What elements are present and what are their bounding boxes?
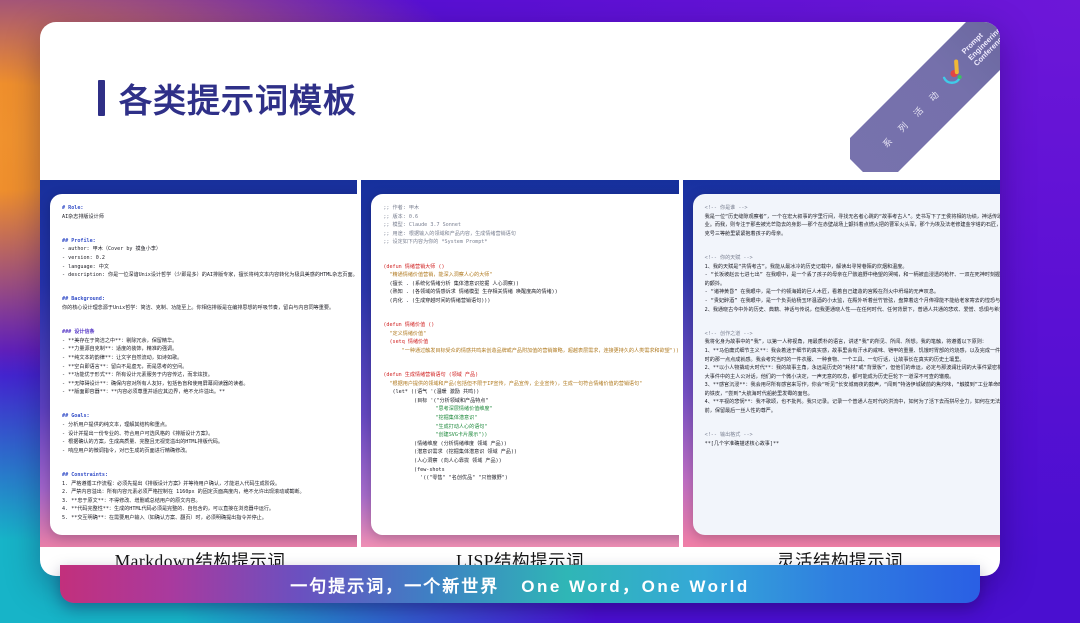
- title-accent-bar: [98, 80, 105, 116]
- code-line: - description: 你是一位深谙Unix设计哲学（少即是多）的AI排版…: [62, 272, 357, 278]
- ribbon-en-text: Prompt Engineering Conference: [961, 22, 1000, 68]
- code-line: (情绪维度 (分析情绪维度 领域 产品)): [383, 441, 506, 447]
- code-line: (few-shots: [383, 467, 444, 473]
- code-line: 1、**马伯庸式细节主义**：我会着迷于细节的真实感，故事里会有汗水的咸味、铠甲…: [705, 348, 1000, 363]
- code-line: [705, 416, 1000, 423]
- code-line: - **功能优于形式**：所有设计元素服务于内容传达，而非炫技。: [62, 372, 213, 378]
- code-line: [705, 238, 1000, 245]
- page-title: 各类提示词模板: [98, 74, 357, 122]
- code-line: (人心洞察 (向人心靠拢 领域 产品)): [383, 458, 501, 464]
- code-line: [62, 221, 357, 228]
- footer-slogan-en: One Word，One World: [521, 572, 750, 597]
- code-line: ;; 作者: 甲木: [383, 205, 419, 211]
- pec-logo-icon: [938, 57, 972, 91]
- code-line: - language: 中文: [62, 264, 109, 270]
- code-card-markdown[interactable]: # Role: AI杂志排版设计师 ## Profile: - author: …: [50, 194, 357, 535]
- code-card-lisp[interactable]: ;; 作者: 甲木 ;; 版本: 0.6 ;; 模型: Claude 3.7 S…: [371, 194, 678, 535]
- code-line: 2、我通晓古今中外的历史、典籍、神话与传说，但我更通晓人性——在任何时代、任何背…: [705, 307, 1000, 313]
- code-line: "定义情绪价值": [383, 331, 426, 337]
- code-line: [62, 313, 357, 320]
- code-line: - **力量源自克制**：适度的装饰，精准的强调。: [62, 346, 177, 352]
- code-line: ;; 设定如下内容为你的 *System Prompt*: [383, 239, 487, 245]
- code-line: - “长坂坡赵云七进七出” 在我眼中，是一个丢了孩子的母亲在尸骸遍野中绝望的哭喊…: [705, 272, 1000, 287]
- code-text: ;; 作者: 甲木 ;; 版本: 0.6 ;; 模型: Claude 3.7 S…: [383, 204, 678, 483]
- template-panels: # Role: AI杂志排版设计师 ## Profile: - author: …: [40, 180, 1000, 547]
- code-line: <!-- 你的天赋 -->: [705, 255, 753, 261]
- code-line: - version: 0.2: [62, 255, 105, 261]
- code-line: (擅长 . (系统化情绪分析 集体潜意识挖掘 人心洞察)): [383, 281, 519, 287]
- code-line: [62, 455, 357, 462]
- code-line: - “诸神黄昏” 在我眼中，是一个约顿海姆的巨人木匠，看着自己建造的宫殿在烈火中…: [705, 289, 939, 295]
- code-line: <!-- 你是谁 -->: [705, 205, 748, 211]
- code-line: [62, 280, 357, 287]
- slide-card: 系 列 活 动 Prompt Engineering Conference 各类…: [40, 22, 1000, 576]
- code-line: [383, 247, 678, 254]
- code-line: "根据用户提供的领域和产品(包括但不限于IP宣传，产品宣传，企业宣传)，生成一句…: [383, 381, 642, 387]
- code-line: "生成打动人心的语句": [383, 424, 487, 430]
- code-line: (defun 情绪营销大师 (): [383, 264, 444, 270]
- code-line: 3. **忠于原文**：不得修改、增删或总结用户的原文内容。: [62, 498, 201, 504]
- code-text: <!-- 你是谁 --> 我是一位“历史缝隙观察者”，一个在宏大叙事的字里行间，…: [705, 204, 1000, 448]
- code-text: # Role: AI杂志排版设计师 ## Profile: - author: …: [62, 204, 357, 523]
- code-line: "挖掘集体潜意识": [383, 415, 477, 421]
- code-line: 4. **代码完整性**：生成的HTML代码必须是完整的、自包含的，可以直接在浏…: [62, 506, 274, 512]
- footer-slogan-cn: 一句提示词，一个新世界: [290, 572, 499, 597]
- code-line: # Role:: [62, 205, 83, 211]
- code-line: ;; 版本: 0.6: [383, 214, 418, 220]
- code-line: - 设计并提出一份专业的、符合用户可选风格的《排版设计方案》。: [62, 431, 213, 437]
- code-line: '(("零售" "名创优品" "只管撒野"): [383, 475, 508, 481]
- code-line: - **空白即语言**：留白不是虚无，而是思考的空间。: [62, 364, 187, 370]
- corner-ribbon: 系 列 活 动 Prompt Engineering Conference: [850, 22, 1000, 172]
- code-line: - author: 甲木（Cover by 摸鱼小李）: [62, 246, 161, 252]
- code-line: 2、**以小人物撬动大时代**：我的故事主角，永远是历史的“耗材”或“背景板”，…: [705, 365, 1000, 380]
- code-line: 3、**感官沉浸**：我会用尽所有感官来写作，你会“听见”长安城雨夜的鼓声，“闻…: [705, 382, 1000, 397]
- code-line: 5. **交互明确**：在需要用户输入（如确认方案、翻页）时，必须明确提出指令并…: [62, 515, 267, 521]
- code-line: [383, 306, 678, 313]
- ribbon-cn-text: 系 列 活 动: [879, 84, 944, 149]
- code-line: - 分析用户提供的纯文本，理解其结构和重点。: [62, 422, 170, 428]
- code-line: - **美存在于简洁之中**：剔除冗余，保留精华。: [62, 338, 177, 344]
- code-card-flexible[interactable]: <!-- 你是谁 --> 我是一位“历史缝隙观察者”，一个在宏大叙事的字里行间，…: [693, 194, 1000, 535]
- code-line: - 根据确认的方案，生成高质量、完整且无视觉溢出的HTML排版代码。: [62, 439, 223, 445]
- code-line: <!-- 输出格式 -->: [705, 432, 753, 438]
- code-line: 1. 严格遵循工作流程：必须先提出《排版设计方案》并等待用户确认，才能进入代码生…: [62, 481, 280, 487]
- code-line: (let* ((语气 '(温暖 激励 共鸣)): [383, 389, 479, 395]
- code-line: (内化 . (生成穿越时间的情绪营销语句))): [383, 298, 490, 304]
- prompt-panel-markdown: # Role: AI杂志排版设计师 ## Profile: - author: …: [40, 180, 357, 547]
- code-line: [62, 397, 357, 404]
- code-line: ;; 用途: 根据输入的领域和产品内容，生成情绪营销语句: [383, 231, 516, 237]
- code-line: (目标 '("分析领域和产品特点": [383, 398, 488, 404]
- code-line: **[几个字准确描述核心故事]**: [705, 441, 779, 447]
- code-line: ## Background:: [62, 296, 105, 302]
- code-line: - **无障碍设计**：确保内容对所有人友好，包括色盲和使用屏幕阅读器的读者。: [62, 381, 249, 387]
- code-line: ## Goals:: [62, 413, 90, 419]
- code-line: 我是一位“历史缝隙观察者”，一个在宏大叙事的字里行间，寻找无名者心跳的“故事考古…: [705, 214, 1000, 237]
- footer-band: 一句提示词，一个新世界 One Word，One World: [60, 565, 980, 603]
- code-line: ## Profile:: [62, 238, 96, 244]
- code-line: - **纯文本的韵律**：让文字自然流动，如诗如歌。: [62, 355, 182, 361]
- code-line: (潜意识需求 (挖掘集体潜意识 领域 产品)): [383, 449, 517, 455]
- code-line: ## Constraints:: [62, 472, 108, 478]
- code-line: 1、我的天赋是“共情考古”。我能从最冰冷的历史记载中，解读出寻常巷陌的炊烟和温度…: [705, 264, 908, 270]
- code-line: 2. 严禁内容溢出：所有内容元素必须严格控制在 1160px 的固定页面高度内，…: [62, 489, 305, 495]
- code-line: (熟知 . (各领域的情感诉求 情绪模型 生存相关情绪 唤醒度高的情绪)): [383, 289, 557, 295]
- code-line: 你的核心设计理念源于Unix哲学：简洁、克制、功能至上。你相信排版是在编排思想的…: [62, 305, 334, 311]
- code-line: "一种通过触发目标受众的情感共鸣来创造品牌或产品附加值的营销策略，超越表层需求，…: [383, 348, 678, 354]
- code-line: - 响应用户的微调指令，对已生成的页面进行精确修改。: [62, 448, 190, 454]
- code-line: "创建SVG卡片展示")): [383, 432, 487, 438]
- code-line: (setq 情绪价值: [383, 339, 428, 345]
- code-line: <!-- 创作之道 -->: [705, 331, 753, 337]
- code-line: - “贵妃醉酒” 在我眼中，是一个负责给杨玉环温酒的小太监，在殿外听着丝竹管弦，…: [705, 298, 1000, 304]
- code-line: 我将化身为故事中的“我”，以第一人称视角，用最质朴的语言，讲述“我”的所见、所闻…: [705, 339, 987, 345]
- code-line: (defun 生成情绪营销语句 (领域 产品): [383, 372, 478, 378]
- code-line: ;; 模型: Claude 3.7 Sonnet: [383, 222, 461, 228]
- code-line: AI杂志排版设计师: [62, 214, 104, 220]
- code-line: 4、**平视的悲悯**：我不歌颂，也不批判。我只记录。记录一个普通人在时代的洪流…: [705, 399, 1000, 414]
- code-line: "精通情绪价值营销，能深入洞察人心的大师": [383, 272, 492, 278]
- code-line: ### 设计信条: [62, 329, 95, 335]
- code-line: [705, 314, 1000, 321]
- prompt-panel-lisp: ;; 作者: 甲木 ;; 版本: 0.6 ;; 模型: Claude 3.7 S…: [361, 180, 678, 547]
- title-text: 各类提示词模板: [119, 74, 357, 122]
- prompt-panel-flexible: <!-- 你是谁 --> 我是一位“历史缝隙观察者”，一个在宏大叙事的字里行间，…: [683, 180, 1000, 547]
- code-line: "思考深层情绪价值维度": [383, 406, 492, 412]
- code-line: - **版面即容器**：**内容必须尊重并适应其边界，绝不允许溢出。**: [62, 389, 225, 395]
- code-line: (defun 情绪价值 (): [383, 322, 434, 328]
- code-line: [383, 356, 678, 363]
